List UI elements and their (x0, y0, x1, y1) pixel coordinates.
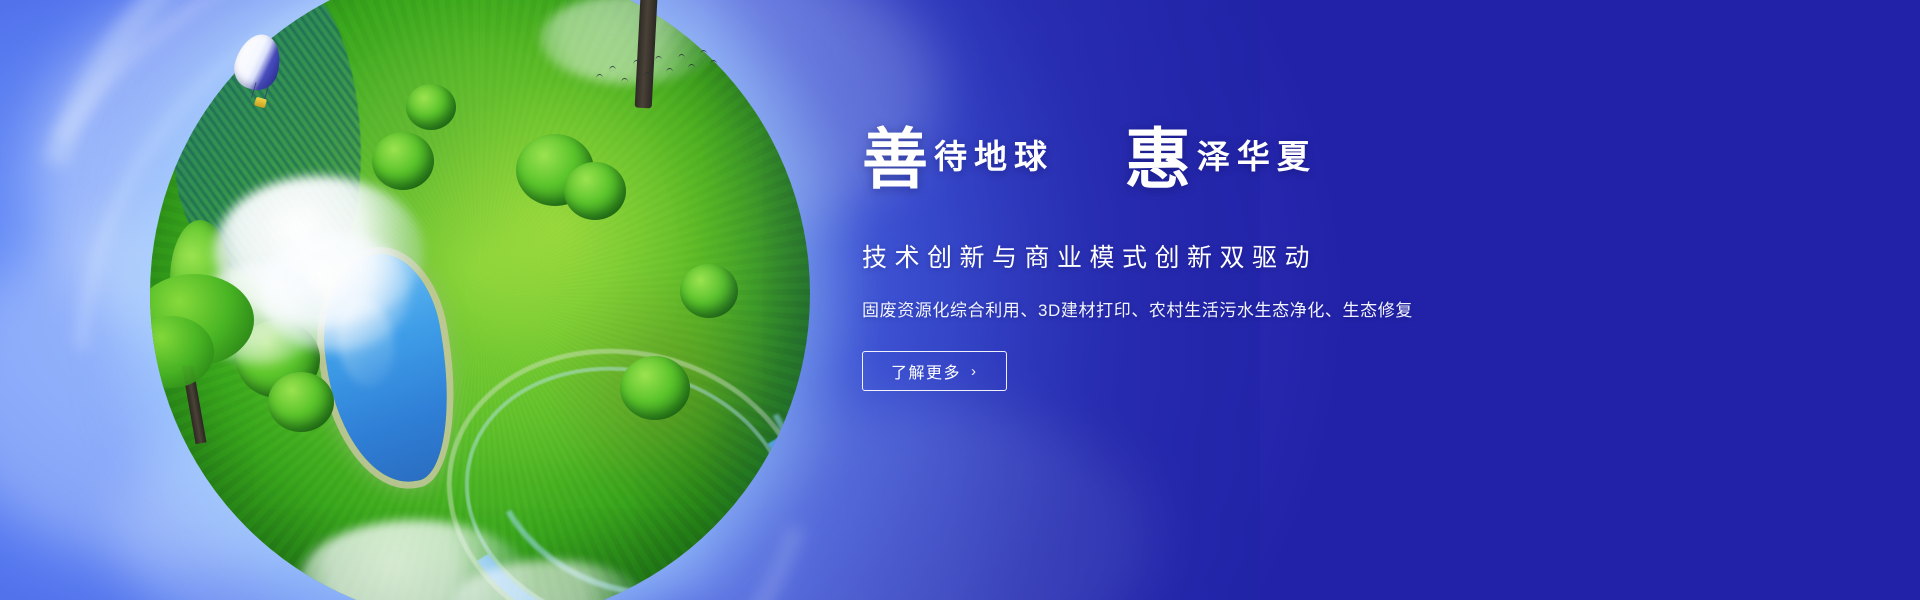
bird-icon (633, 60, 641, 66)
bird-icon (678, 54, 686, 60)
subtitle: 技术创新与商业模式创新双驱动 (862, 238, 1562, 274)
headline-phrase-two: 惠泽华夏 (1125, 126, 1317, 192)
headline-rest-chars: 待地球 (934, 137, 1054, 176)
tree-canopy (564, 162, 626, 220)
chevron-right-icon: › (971, 364, 978, 379)
bird-icon (609, 66, 617, 72)
bird-icon (710, 60, 718, 66)
learn-more-button[interactable]: 了解更多 › (862, 351, 1007, 391)
tree-canopy (372, 132, 434, 190)
hero-copy: 善待地球 惠泽华夏 技术创新与商业模式创新双驱动 固废资源化综合利用、3D建材打… (862, 126, 1562, 391)
headline-accent-char: 善 (862, 120, 928, 198)
learn-more-label: 了解更多 (891, 359, 961, 383)
bird-icon (688, 64, 696, 70)
tree-canopy (620, 356, 690, 420)
tree-canopy (406, 84, 456, 130)
page-title: 善待地球 惠泽华夏 (862, 126, 1562, 212)
bird-icon (655, 56, 663, 62)
tree-canopy (268, 372, 334, 432)
bird-icon (700, 50, 708, 56)
tree-canopy (680, 264, 738, 318)
bird-icon (621, 78, 629, 84)
bird-icon (644, 72, 652, 78)
tree-image (150, 264, 258, 454)
description-text: 固废资源化综合利用、3D建材打印、农村生活污水生态净化、生态修复 (862, 296, 1562, 321)
bird-flock-icon (592, 48, 722, 92)
headline-phrase-one: 善待地球 (862, 126, 1054, 192)
headline-accent-char: 惠 (1125, 120, 1191, 198)
hot-air-balloon-icon (236, 34, 280, 112)
headline-rest-chars: 泽华夏 (1197, 137, 1317, 176)
bird-icon (666, 68, 674, 74)
bird-icon (596, 74, 604, 80)
balloon-basket (254, 97, 267, 109)
hero-banner: 善待地球 惠泽华夏 技术创新与商业模式创新双驱动 固废资源化综合利用、3D建材打… (0, 0, 1920, 600)
